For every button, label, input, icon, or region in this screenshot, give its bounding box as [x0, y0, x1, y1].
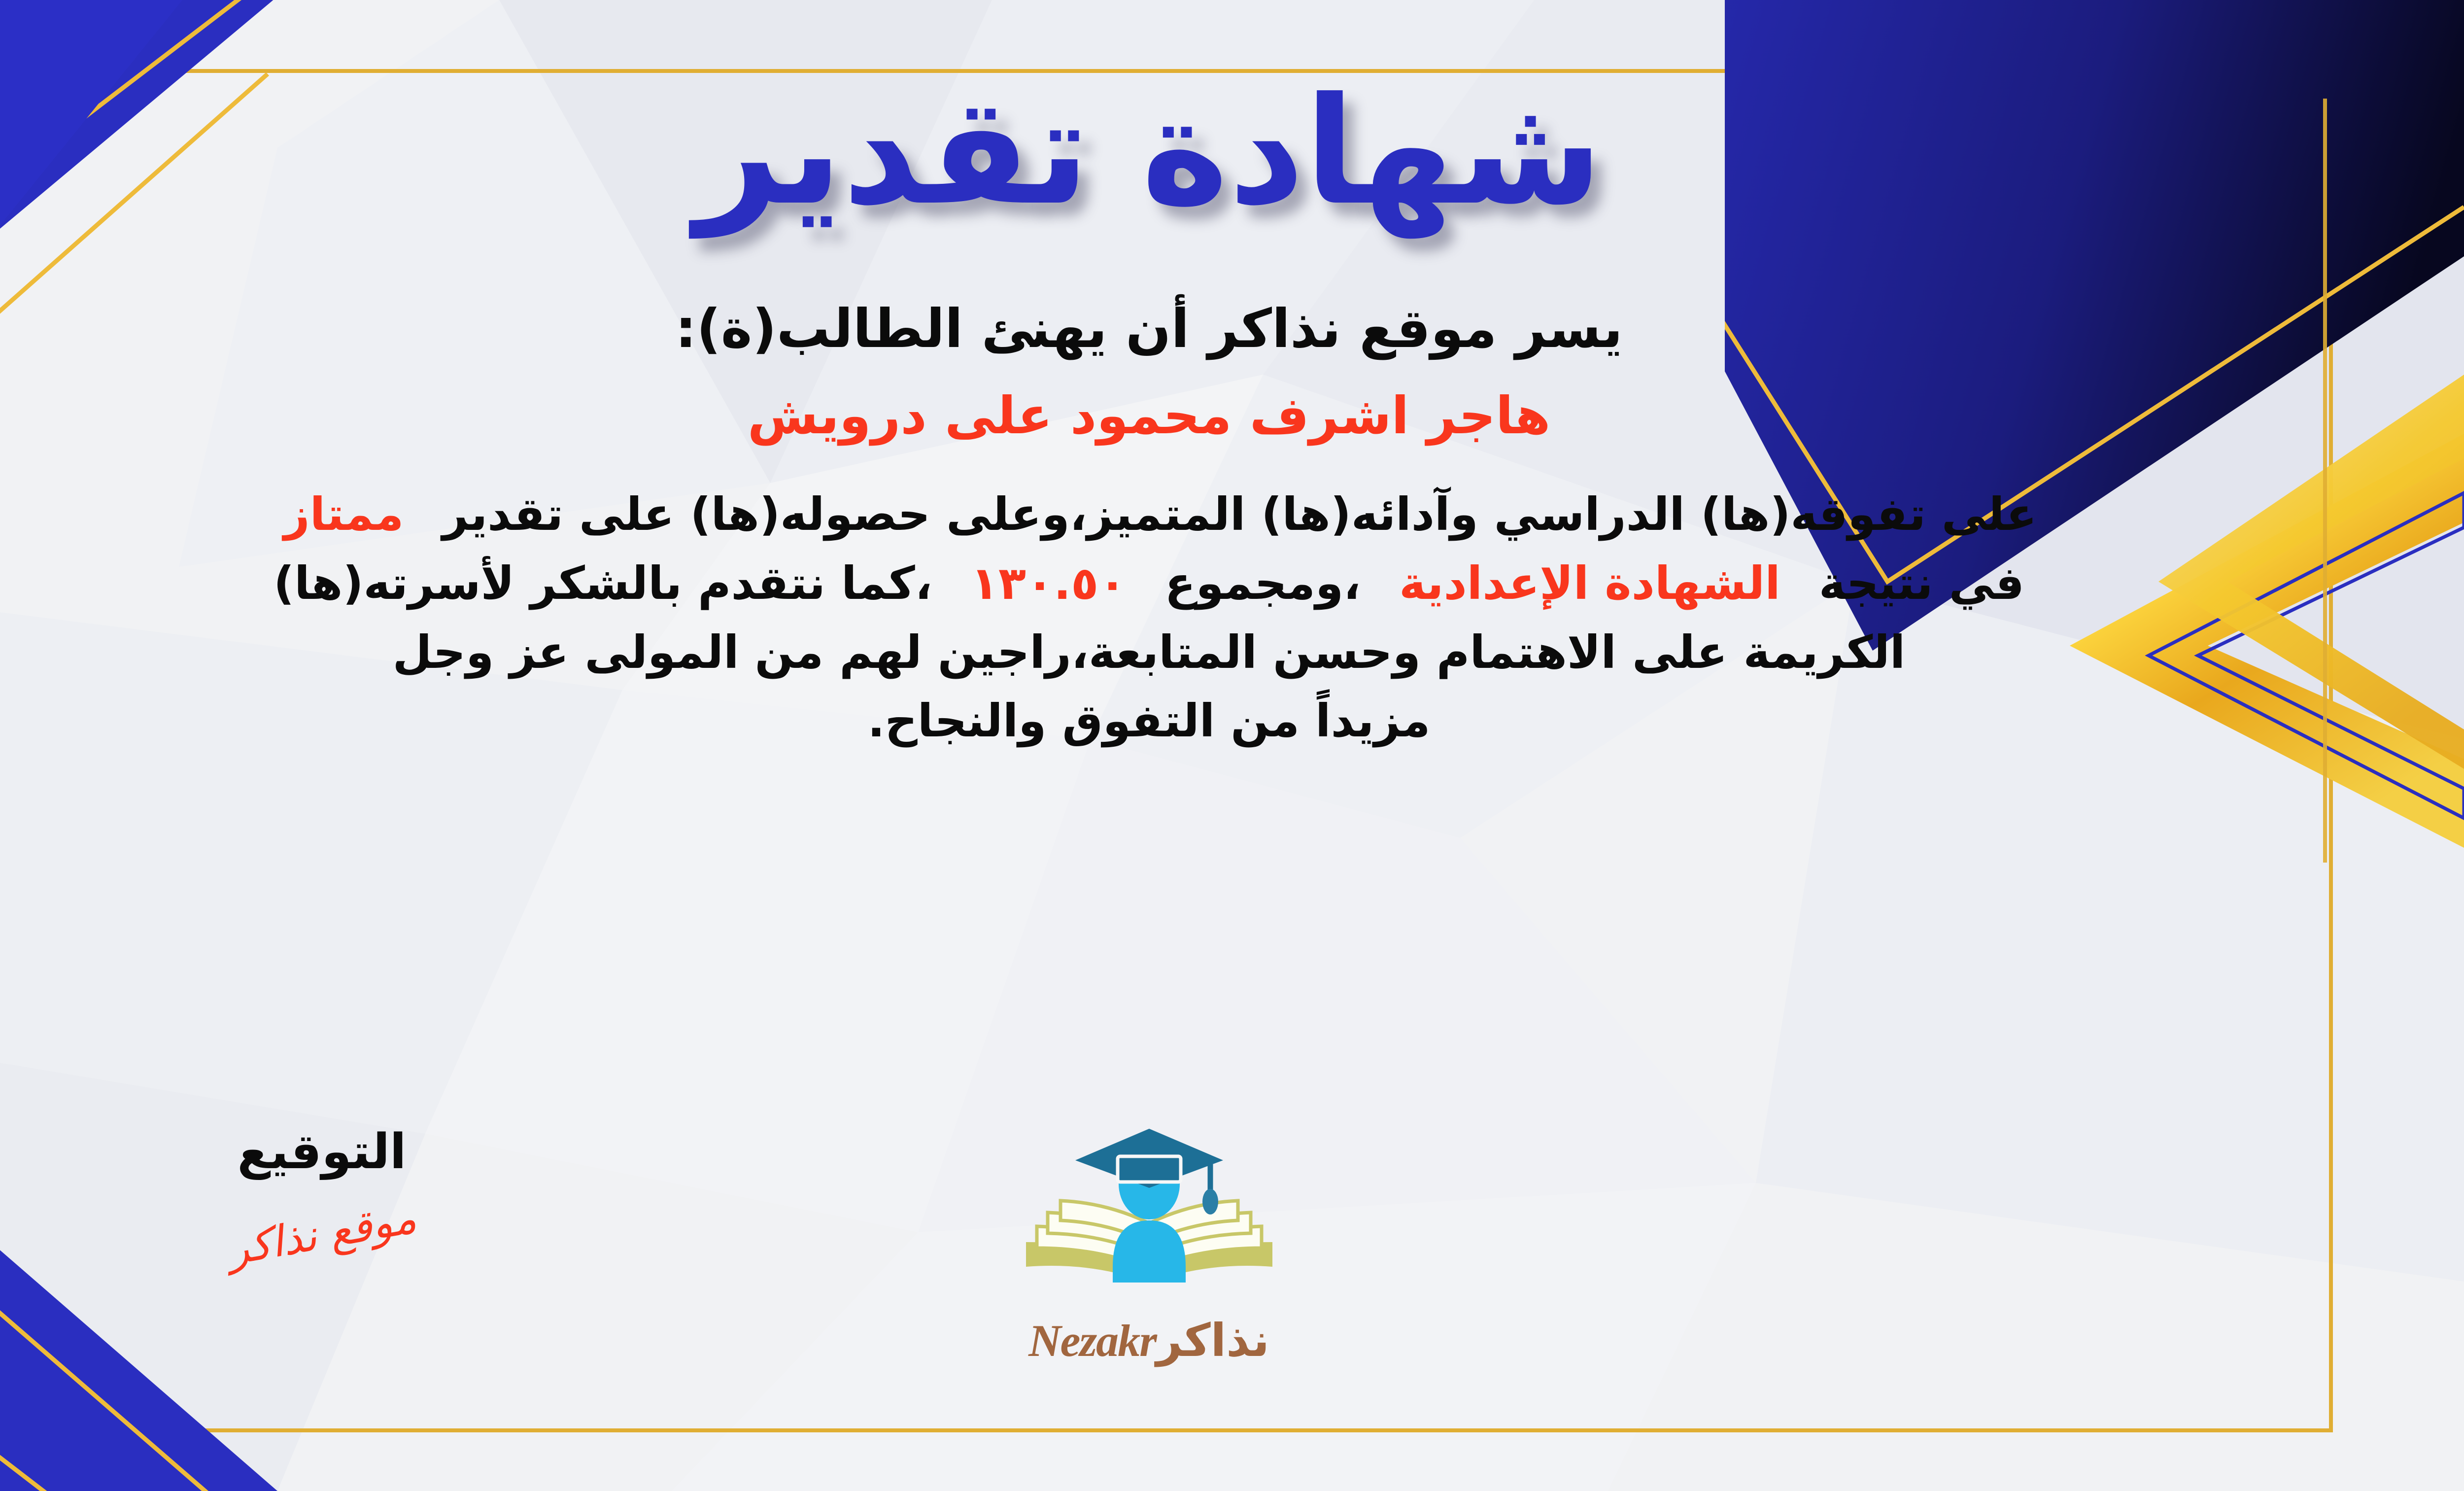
certificate-canvas: شهادة تقدير يسر موقع نذاكر أن يهنئ الطال…: [0, 0, 2464, 1491]
logo-text-latin: Nezakr: [1028, 1316, 1156, 1366]
logo-wordmark: نذاكرNezakr: [962, 1314, 1336, 1367]
certificate-footer: التوقيع موقع نذاكر: [0, 1124, 2464, 1439]
signature-script: موقع نذاكر: [224, 1193, 420, 1275]
body-text-total-label: ،ومجموع: [1164, 557, 1361, 610]
graduate-book-icon: [1011, 1119, 1287, 1326]
certificate-title: شهادة تقدير: [695, 74, 1603, 229]
body-line-1: على تفوقه(ها) الدراسي وآدائه(ها) المتميز…: [26, 480, 2273, 549]
signature-label: التوقيع: [149, 1124, 494, 1180]
exam-name: الشهادة الإعدادية: [1376, 557, 1803, 610]
body-line-4: مزيداً من التفوق والنجاح.: [26, 687, 2273, 756]
body-text-achievement: على تفوقه(ها) الدراسي وآدائه(ها) المتميز…: [442, 488, 2037, 541]
site-logo: نذاكرNezakr: [962, 1119, 1336, 1367]
total-score: ١٣٠.٥٠: [948, 557, 1149, 610]
congratulation-line: يسر موقع نذاكر أن يهنئ الطالب(ة):: [675, 298, 1623, 360]
signature-block: التوقيع موقع نذاكر: [149, 1124, 494, 1259]
body-line-2: في نتيجة الشهادة الإعدادية ،ومجموع ١٣٠.٥…: [26, 549, 2273, 618]
body-text-result-prefix: في نتيجة: [1819, 557, 2024, 610]
grade-value: ممتاز: [261, 488, 427, 541]
body-line-3: الكريمة على الاهتمام وحسن المتابعة،راجين…: [26, 618, 2273, 687]
logo-text-arabic: نذاكر: [1156, 1314, 1269, 1367]
body-text-thanks: ،كما نتقدم بالشكر لأسرته(ها): [274, 557, 932, 610]
student-name: هاجر اشرف محمود على درويش: [748, 385, 1550, 446]
certificate-body: على تفوقه(ها) الدراسي وآدائه(ها) المتميز…: [26, 480, 2273, 756]
